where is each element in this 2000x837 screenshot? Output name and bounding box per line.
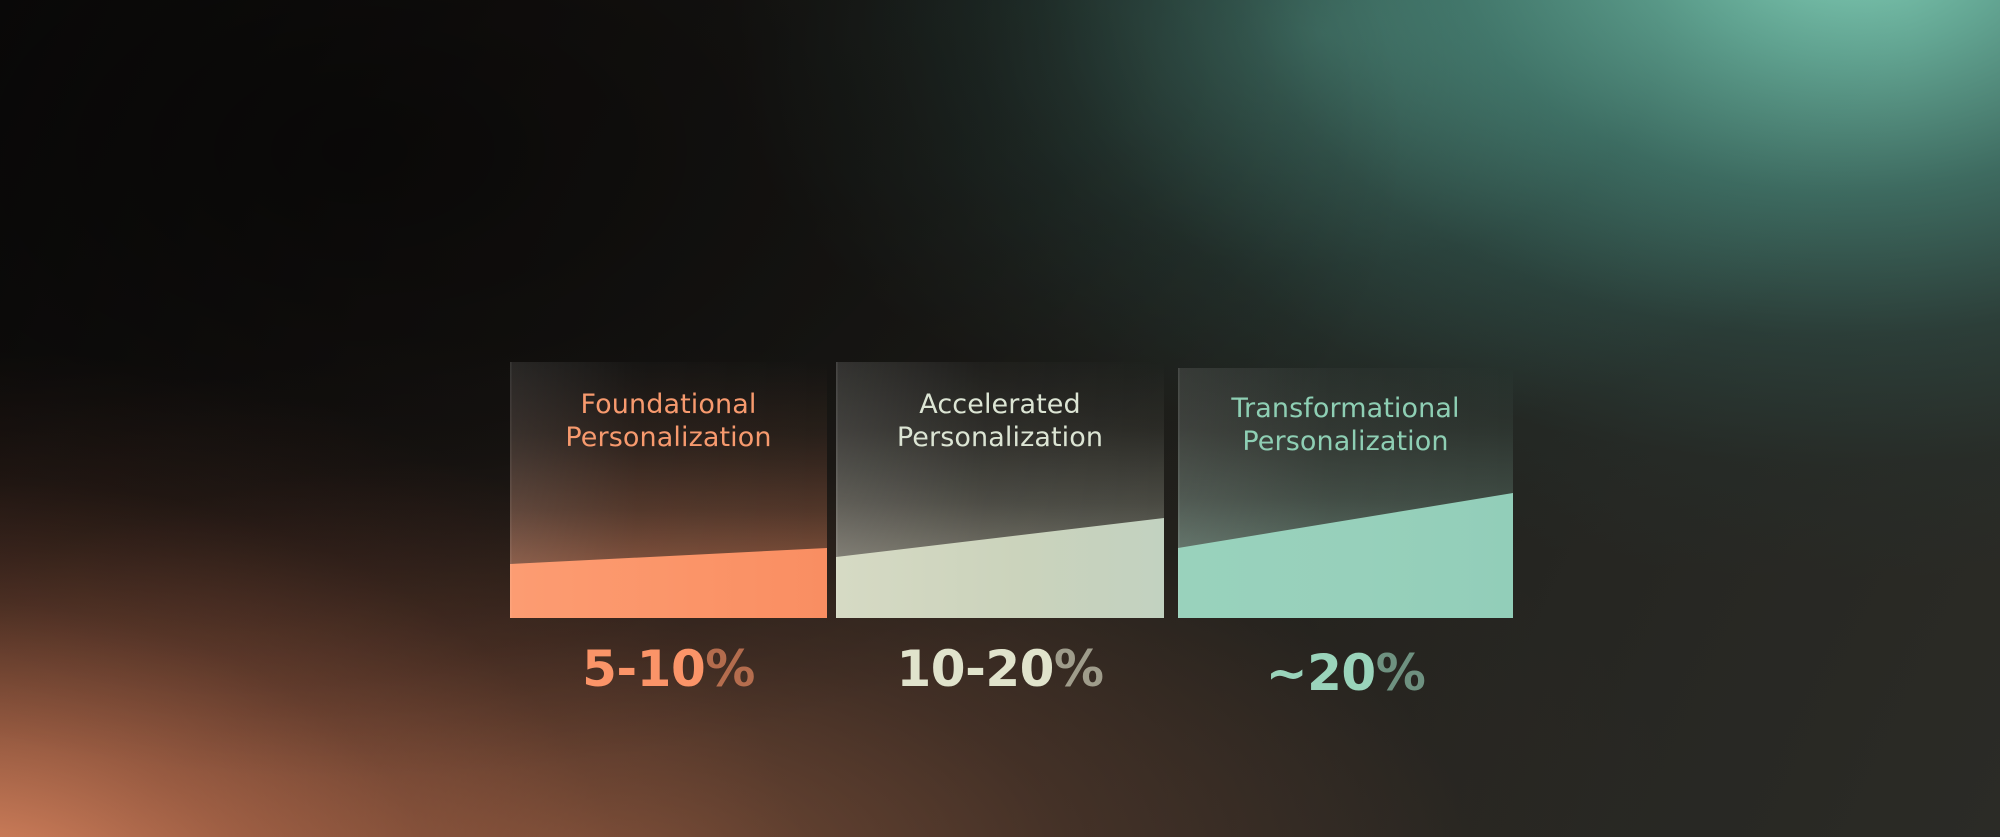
value-unit-transformational: %	[1376, 644, 1426, 702]
slide-canvas: Foundational Personalization 5-10%	[0, 0, 2000, 837]
value-number-transformational: ~20	[1266, 644, 1376, 702]
chart-panel-transformational[interactable]	[1178, 368, 1513, 618]
panel-value-transformational: ~20%	[1178, 644, 1513, 702]
personalization-maturity-chart: Foundational Personalization 5-10%	[0, 0, 2000, 837]
chart-panel-foundational[interactable]	[510, 362, 827, 618]
panel-value-accelerated: 10-20%	[836, 640, 1164, 698]
chart-panel-accelerated[interactable]	[836, 362, 1164, 618]
panel-wedge-transformational	[1178, 368, 1513, 618]
value-number-foundational: 5-10	[582, 640, 705, 698]
value-unit-accelerated: %	[1054, 640, 1104, 698]
value-unit-foundational: %	[705, 640, 755, 698]
panel-value-foundational: 5-10%	[510, 640, 827, 698]
panel-wedge-accelerated	[836, 362, 1164, 618]
panel-wedge-foundational	[510, 362, 827, 618]
value-number-accelerated: 10-20	[896, 640, 1053, 698]
